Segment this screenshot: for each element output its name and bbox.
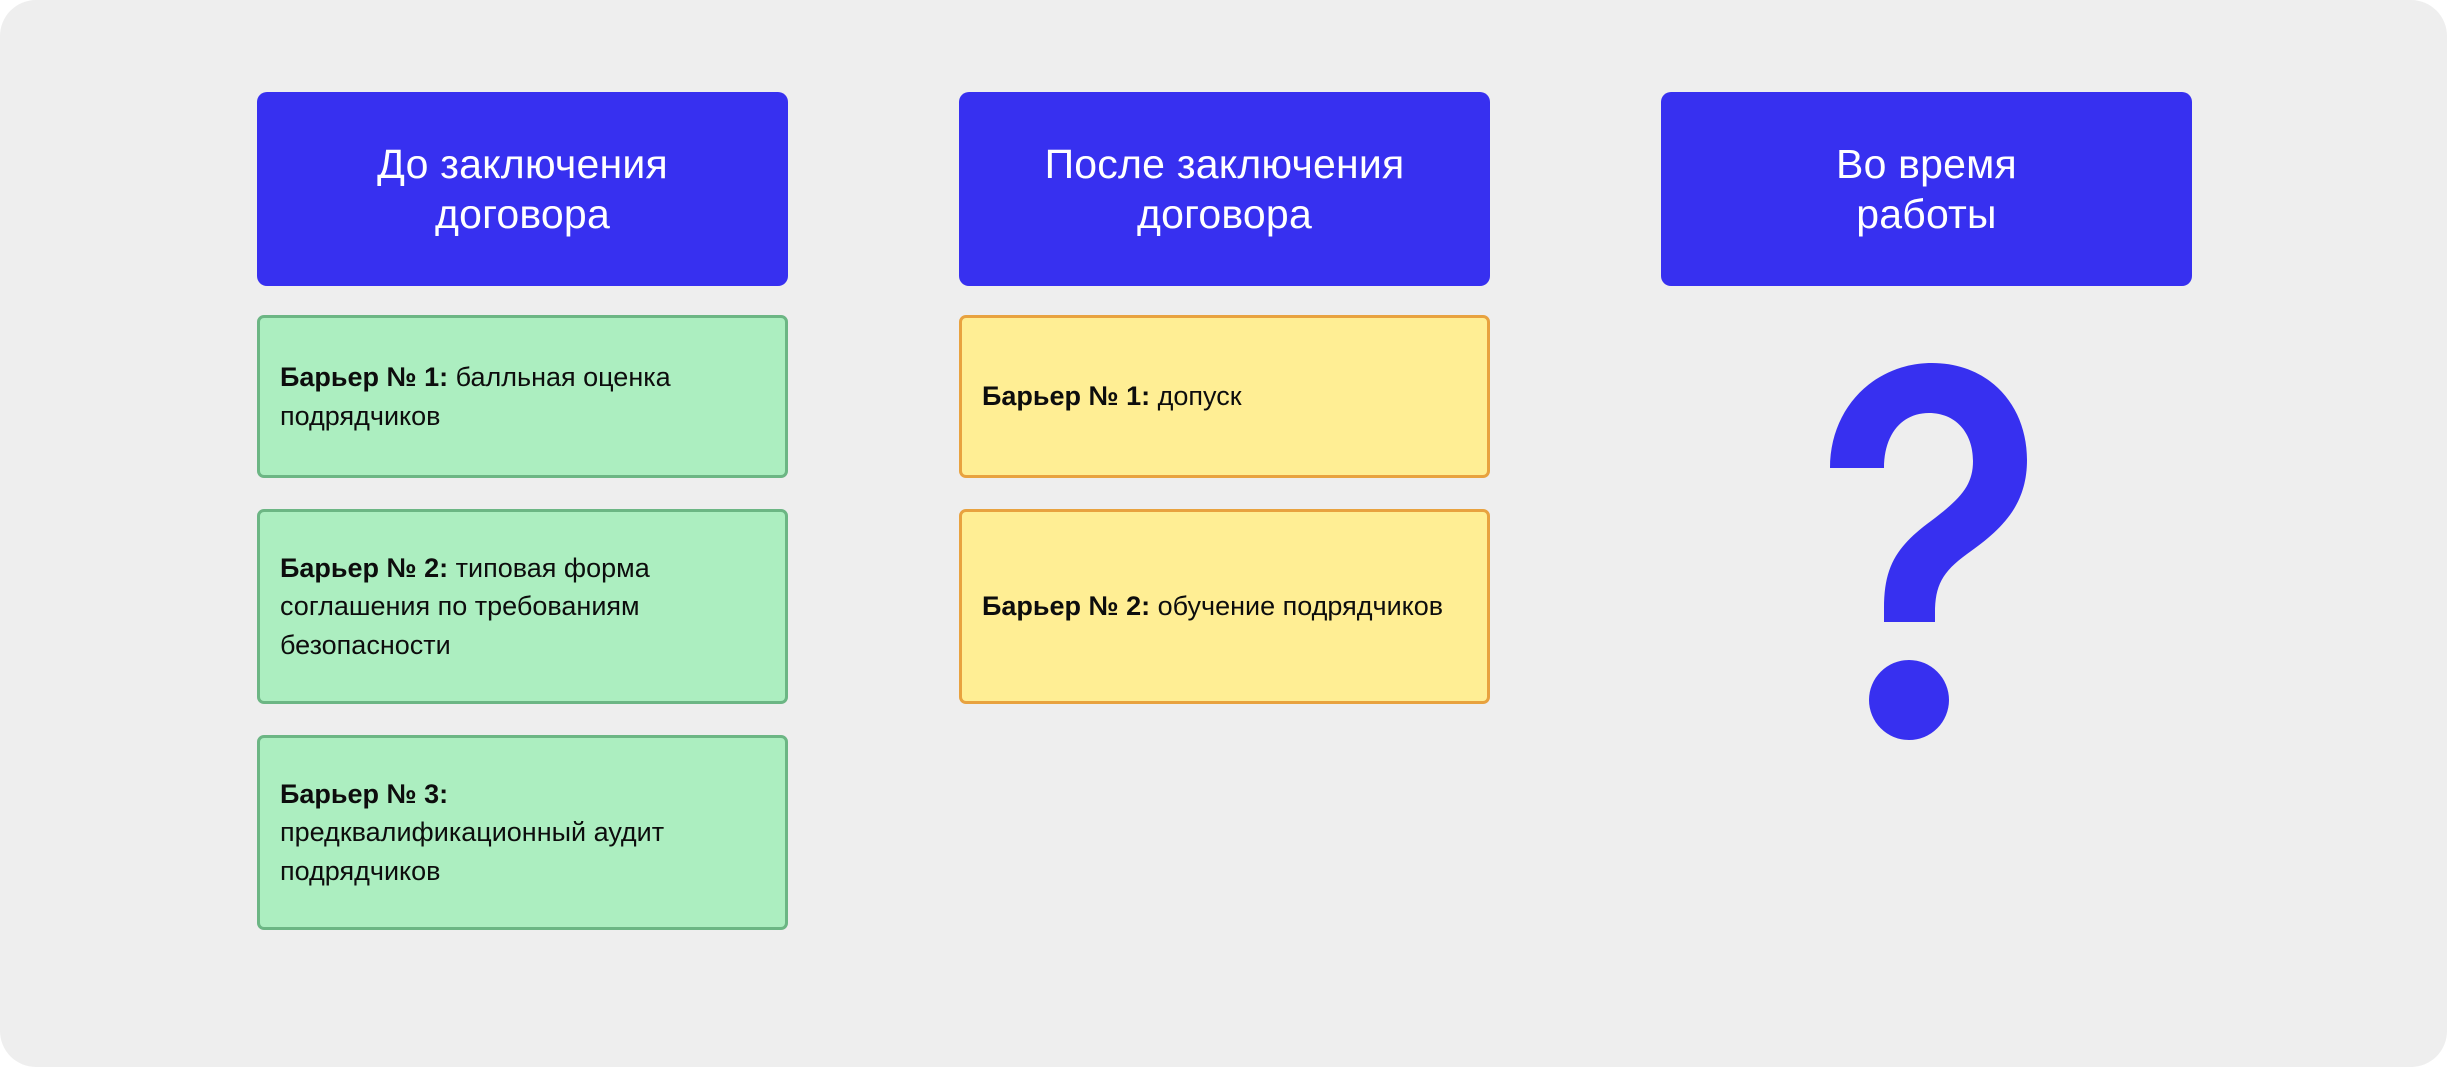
column-header-after-contract: После заключения договора <box>959 92 1490 286</box>
barrier-description: допуск <box>1150 381 1241 411</box>
column-header-before-contract: До заключения договора <box>257 92 788 286</box>
barrier-card: Барьер № 2: обучение подрядчиков <box>959 509 1490 704</box>
barrier-label: Барьер № 1: <box>982 381 1150 411</box>
column-header-label: До заключения договора <box>377 139 668 239</box>
barrier-card-text: Барьер № 3:предквалификационный аудит по… <box>280 775 763 890</box>
barrier-card-text: Барьер № 1: допуск <box>982 377 1242 415</box>
barrier-card: Барьер № 1: балльная оценка подрядчиков <box>257 315 788 478</box>
barrier-card-text: Барьер № 1: балльная оценка подрядчиков <box>280 358 763 435</box>
barrier-label: Барьер № 1: <box>280 362 448 392</box>
column-header-during-work: Во время работы <box>1661 92 2192 286</box>
barrier-card-text: Барьер № 2: обучение подрядчиков <box>982 587 1443 625</box>
diagram-canvas: До заключения договора Барьер № 1: балль… <box>0 0 2447 1067</box>
column-header-label: После заключения договора <box>1045 139 1405 239</box>
column-after-contract: После заключения договора Барьер № 1: до… <box>959 92 1490 930</box>
column-before-contract: До заключения договора Барьер № 1: балль… <box>257 92 788 930</box>
barrier-description: предквалификационный аудит подрядчиков <box>280 817 664 885</box>
column-header-label: Во время работы <box>1836 139 2017 239</box>
barrier-description: обучение подрядчиков <box>1150 591 1443 621</box>
barrier-card: Барьер № 3:предквалификационный аудит по… <box>257 735 788 930</box>
barrier-card-text: Барьер № 2: типовая форма соглашения по … <box>280 549 763 664</box>
question-mark-container <box>1661 360 2192 780</box>
column-during-work: Во время работы <box>1661 92 2192 930</box>
barrier-card: Барьер № 1: допуск <box>959 315 1490 478</box>
question-mark-dot-icon <box>1869 660 1949 740</box>
columns-container: До заключения договора Барьер № 1: балль… <box>257 92 2192 930</box>
barrier-label: Барьер № 2: <box>982 591 1150 621</box>
barrier-label: Барьер № 2: <box>280 553 448 583</box>
barrier-card: Барьер № 2: типовая форма соглашения по … <box>257 509 788 704</box>
question-mark-icon <box>1827 360 2027 650</box>
barrier-label: Барьер № 3: <box>280 775 763 813</box>
